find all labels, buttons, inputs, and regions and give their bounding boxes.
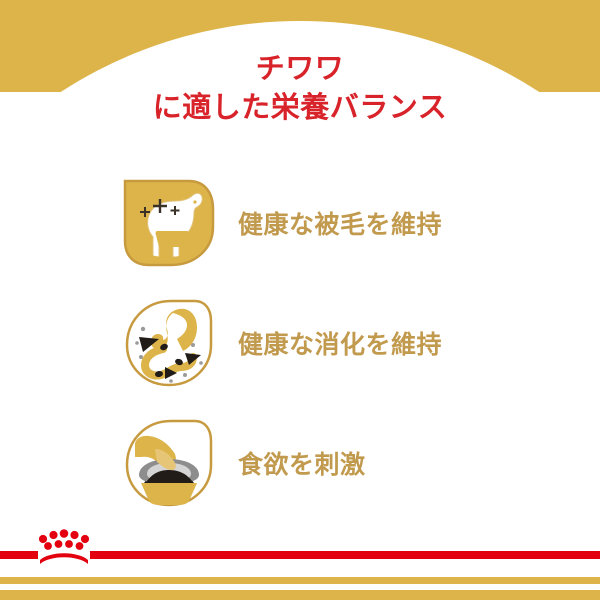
healthy-coat-icon: [112, 175, 222, 271]
feature-row: 食欲を刺激: [0, 403, 600, 523]
footer-gold-rule-top: [0, 577, 600, 584]
appetite-stimulation-icon: [112, 415, 222, 511]
feature-row: 健康な被毛を維持: [0, 163, 600, 283]
healthy-digestion-icon: [112, 295, 222, 391]
feature-label: 食欲を刺激: [238, 445, 366, 481]
feature-label: 健康な被毛を維持: [238, 205, 442, 241]
feature-label: 健康な消化を維持: [238, 325, 442, 361]
promo-panel: チワワ に適した栄養バランス: [0, 0, 600, 600]
title-line-1: チワワ: [0, 52, 600, 86]
footer-gold-rule-bottom: [0, 590, 600, 600]
page-title: チワワ に適した栄養バランス: [0, 52, 600, 125]
feature-list: 健康な被毛を維持: [0, 163, 600, 523]
title-line-2: に適した栄養バランス: [0, 91, 600, 125]
royal-canin-crown-logo: [36, 527, 92, 567]
feature-row: 健康な消化を維持: [0, 283, 600, 403]
